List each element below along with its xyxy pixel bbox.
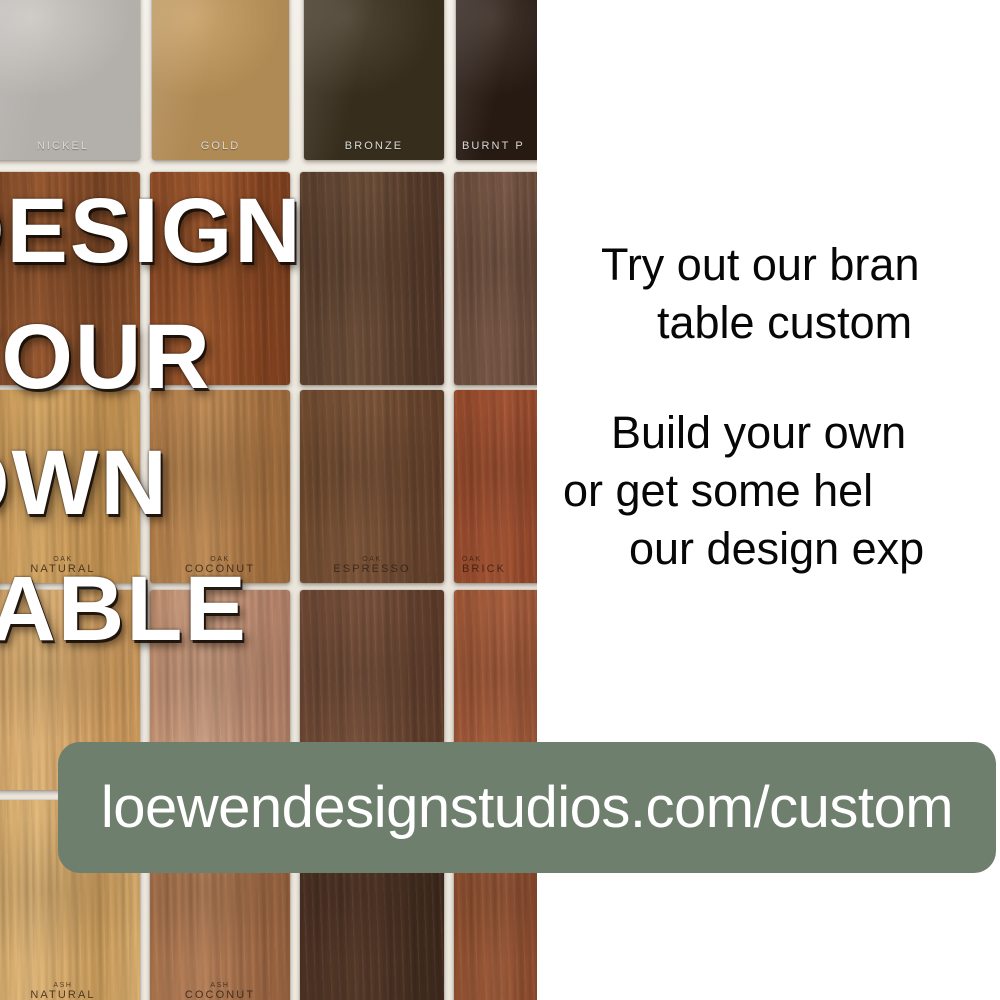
promo-copy: Try out our bran table custom Build your…: [545, 236, 1000, 578]
promo-canvas: NICKEL GOLD BRONZE BURNT P: [0, 0, 1000, 1000]
wood-swatch-ash-coconut-label: ASH COCONUT: [150, 982, 290, 1000]
wood-swatch-ash-natural-sup: ASH: [0, 982, 140, 989]
metal-swatch-nickel-name: NICKEL: [37, 140, 89, 152]
headline-line-3: OWN: [0, 420, 578, 546]
metal-swatch-nickel-label: NICKEL: [0, 140, 140, 152]
copy-paragraph-gap: [545, 352, 1000, 404]
metal-swatch-burnt-penny-name: BURNT P: [462, 140, 525, 152]
url-text[interactable]: loewendesignstudios.com/custom: [101, 779, 953, 837]
url-banner[interactable]: loewendesignstudios.com/custom: [58, 742, 996, 873]
metal-swatch-bronze-name: BRONZE: [345, 140, 403, 152]
wood-swatch-ash-coconut-name: COCONUT: [185, 989, 255, 1000]
headline-line-4: TABLE: [0, 546, 578, 672]
headline-overlay: DESIGN YOUR OWN TABLE: [0, 168, 578, 672]
copy-paragraph-2: Build your own or get some hel our desig…: [545, 404, 1000, 578]
metal-swatch-burnt-penny: BURNT P: [456, 0, 537, 160]
metal-swatch-gold-name: GOLD: [201, 140, 241, 152]
copy-paragraph-1: Try out our bran table custom: [545, 236, 1000, 352]
metal-swatch-bronze: BRONZE: [304, 0, 444, 160]
copy-p2-line-2: or get some hel: [545, 462, 1000, 520]
wood-swatch-ash-natural-name: NATURAL: [30, 989, 95, 1000]
metal-swatch-burnt-penny-label: BURNT P: [462, 140, 537, 152]
metal-swatch-gold-label: GOLD: [152, 140, 289, 152]
metal-swatch-bronze-label: BRONZE: [304, 140, 444, 152]
metal-swatch-nickel: NICKEL: [0, 0, 140, 160]
copy-p1-line-1: Try out our bran: [545, 236, 1000, 294]
wood-swatch-ash-coconut-sup: ASH: [150, 982, 290, 989]
headline-line-1: DESIGN: [0, 168, 578, 294]
copy-p2-line-1: Build your own: [545, 404, 1000, 462]
headline-line-2: YOUR: [0, 294, 578, 420]
wood-swatch-ash-natural-label: ASH NATURAL: [0, 982, 140, 1000]
copy-p1-line-2: table custom: [545, 294, 1000, 352]
copy-p2-line-3: our design exp: [545, 520, 1000, 578]
metal-swatch-gold: GOLD: [152, 0, 289, 160]
